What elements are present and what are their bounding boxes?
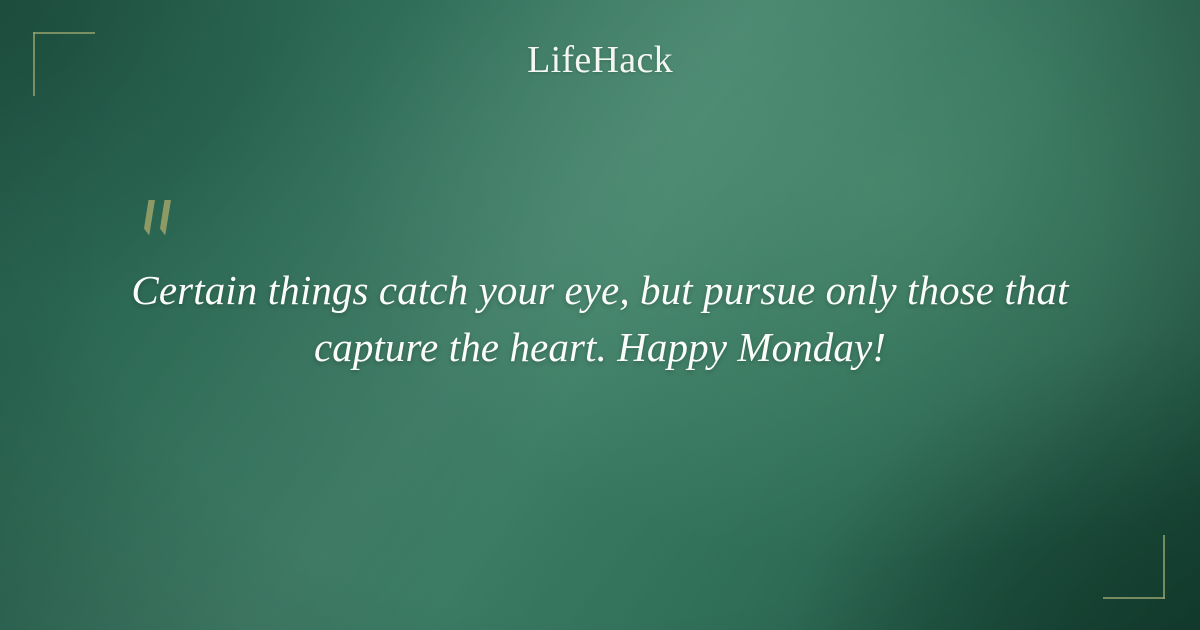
quote-text: Certain things catch your eye, but pursu…: [100, 262, 1100, 376]
bracket-vertical-rule: [1163, 535, 1165, 599]
quote-line: capture the heart. Happy Monday!: [100, 319, 1100, 376]
corner-bracket-bottom-right-icon: [1103, 535, 1165, 599]
bracket-horizontal-rule: [33, 32, 95, 34]
quote-line: Certain things catch your eye, but pursu…: [100, 262, 1100, 319]
quote-card: LifeHack Certain things catch your eye, …: [0, 0, 1200, 630]
bracket-horizontal-rule: [1103, 597, 1165, 599]
lifehack-logo: LifeHack: [0, 36, 1200, 84]
quote-mark-icon: [136, 198, 182, 246]
